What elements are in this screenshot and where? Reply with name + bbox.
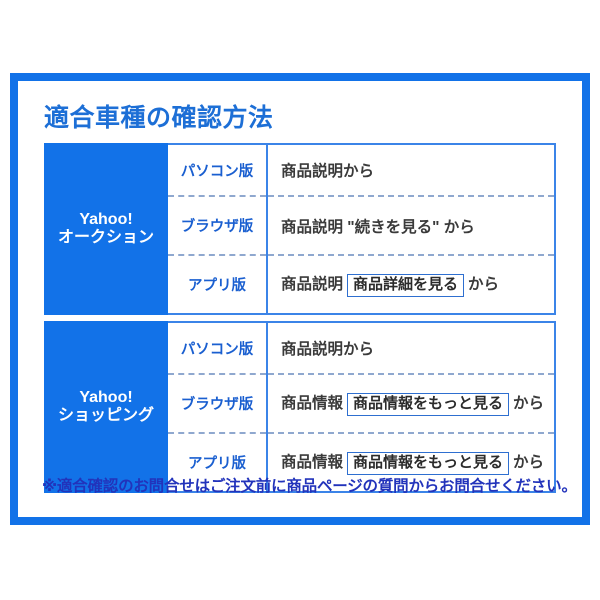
boxed-action-label[interactable]: 商品情報をもっと見る <box>347 452 509 475</box>
brand-cell-yahoo-auction: Yahoo! オークション <box>45 144 167 314</box>
description-text-suffix: から <box>513 454 544 471</box>
footer-note: ※適合確認のお問合せはご注文前に商品ページの質問からお問合せください。 <box>42 474 577 496</box>
boxed-action-label[interactable]: 商品情報をもっと見る <box>347 393 509 416</box>
version-label-browser: ブラウザ版 <box>167 374 267 433</box>
boxed-action-label[interactable]: 商品詳細を見る <box>347 274 464 297</box>
version-label-browser: ブラウザ版 <box>167 196 267 255</box>
compatibility-check-table: Yahoo! オークション パソコン版 商品説明から ブラウザ版 商品説明 "続… <box>44 143 556 493</box>
description-text-prefix: 商品情報 <box>281 395 343 412</box>
table-row: Yahoo! オークション パソコン版 商品説明から <box>45 144 555 196</box>
brand-label-line1: Yahoo! <box>46 389 166 407</box>
block-gap-cell <box>167 314 267 322</box>
description-text: 商品説明から <box>281 341 374 358</box>
block-gap-cell <box>267 314 555 322</box>
description-cell: 商品情報商品情報をもっと見るから <box>267 374 555 433</box>
brand-cell-yahoo-shopping: Yahoo! ショッピング <box>45 322 167 492</box>
block-gap-row <box>45 314 555 322</box>
version-label-pc: パソコン版 <box>167 144 267 196</box>
block-gap-cell <box>45 314 167 322</box>
page-title: 適合車種の確認方法 <box>44 98 274 134</box>
description-cell: 商品説明商品詳細を見るから <box>267 255 555 314</box>
content-panel: 適合車種の確認方法 Yahoo! オークション パソコン版 商品説明から ブラウ… <box>18 81 582 517</box>
description-cell: 商品説明 "続きを見る" から <box>267 196 555 255</box>
version-label-app: アプリ版 <box>167 255 267 314</box>
description-text-prefix: 商品説明 <box>281 276 343 293</box>
version-label-pc: パソコン版 <box>167 322 267 374</box>
description-text-suffix: から <box>513 395 544 412</box>
description-text: 商品説明 "続きを見る" から <box>281 219 475 236</box>
description-cell: 商品説明から <box>267 322 555 374</box>
description-text-suffix: から <box>468 276 499 293</box>
description-cell: 商品説明から <box>267 144 555 196</box>
outer-blue-frame: 適合車種の確認方法 Yahoo! オークション パソコン版 商品説明から ブラウ… <box>10 73 590 525</box>
description-text: 商品説明から <box>281 163 374 180</box>
brand-label-line1: Yahoo! <box>46 211 166 229</box>
brand-label-line2: オークション <box>46 229 166 247</box>
table-row: Yahoo! ショッピング パソコン版 商品説明から <box>45 322 555 374</box>
brand-label-line2: ショッピング <box>46 407 166 425</box>
description-text-prefix: 商品情報 <box>281 454 343 471</box>
